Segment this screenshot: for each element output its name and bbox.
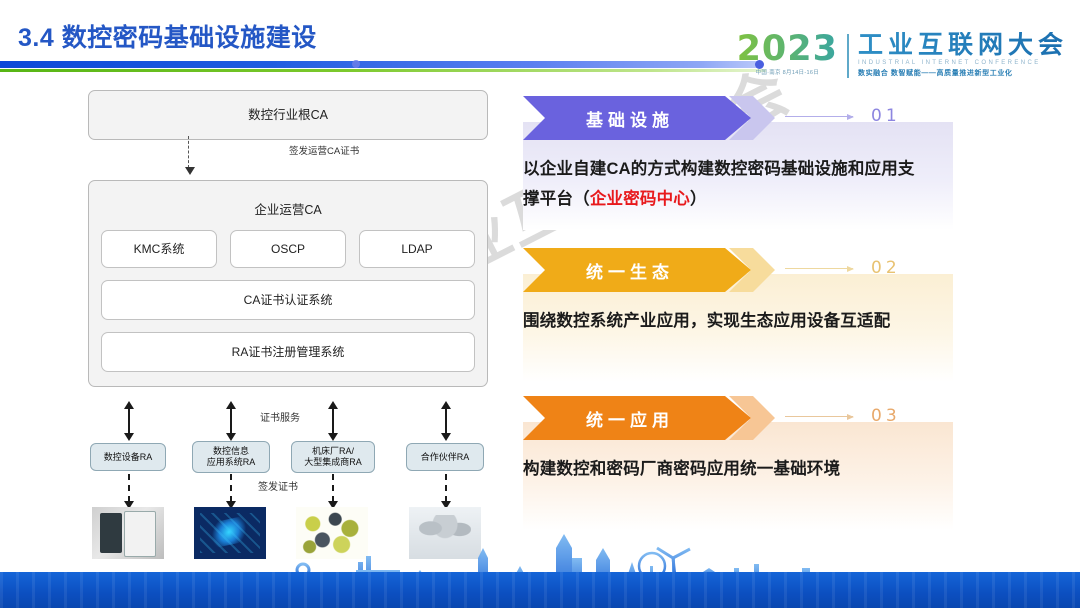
ra-partner-line1: 合作伙伴RA bbox=[421, 452, 470, 463]
section-02-banner-row: 统一生态 02 bbox=[523, 248, 975, 292]
section-02-arrow-icon bbox=[785, 268, 853, 270]
node-ops-ca-title: 企业运营CA bbox=[101, 190, 475, 230]
arrow-sign-ca bbox=[188, 136, 191, 168]
double-arrow-1 bbox=[128, 408, 130, 434]
label-issue-cert: 签发证书 bbox=[258, 478, 298, 493]
skyline-sea-band bbox=[0, 572, 1080, 608]
ra-info-line1: 数控信息 bbox=[213, 446, 249, 457]
section-02-number: 02 bbox=[871, 258, 901, 278]
node-ldap: LDAP bbox=[359, 230, 475, 268]
section-03-banner: 统一应用 bbox=[523, 396, 751, 440]
logo-name-cn: 工业互联网大会 bbox=[858, 32, 1068, 59]
section-01-tail: ） bbox=[690, 190, 707, 208]
section-03: 统一应用 03 构建数控和密码厂商密码应用统一基础环境 bbox=[523, 396, 975, 484]
node-ra-register-system: RA证书注册管理系统 bbox=[101, 332, 475, 372]
dashed-arrow-3 bbox=[332, 474, 334, 502]
section-03-arrow-icon bbox=[785, 416, 853, 418]
section-01-number: 01 bbox=[871, 106, 901, 126]
double-arrow-4 bbox=[445, 408, 447, 434]
ra-info-line2: 应用系统RA bbox=[207, 457, 256, 468]
logo-slogan: 数实融合 数智赋能——高质量推进新型工业化 bbox=[858, 68, 1068, 78]
dashed-arrow-1 bbox=[128, 474, 130, 502]
dashed-arrow-2 bbox=[230, 474, 232, 502]
section-03-text: 构建数控和密码厂商密码应用统一基础环境 bbox=[523, 460, 840, 478]
logo-year: 2023 bbox=[737, 32, 838, 66]
ra-machine-line1: 机床厂RA/ bbox=[312, 446, 354, 457]
section-01-description: 以企业自建CA的方式构建数控密码基础设施和应用支撑平台（企业密码中心） bbox=[523, 154, 923, 214]
section-01-arrow-icon bbox=[785, 116, 853, 118]
node-ra-partner: 合作伙伴RA bbox=[406, 443, 484, 471]
section-01-banner-row: 基础设施 01 bbox=[523, 96, 975, 140]
header-rule-dot bbox=[352, 60, 360, 68]
section-01-banner: 基础设施 bbox=[523, 96, 751, 140]
city-skyline-decoration bbox=[0, 518, 1080, 608]
node-ra-info-app: 数控信息 应用系统RA bbox=[192, 441, 270, 473]
section-01-text: 以企业自建CA的方式构建数控密码基础设施和应用支撑平台（ bbox=[523, 160, 915, 208]
logo-date: 中国·南京 8月14日-16日 bbox=[737, 68, 838, 76]
header-rule-green bbox=[0, 69, 766, 72]
node-ra-machine-tool: 机床厂RA/ 大型集成商RA bbox=[291, 441, 375, 473]
ra-machine-line2: 大型集成商RA bbox=[304, 457, 362, 468]
label-cert-service: 证书服务 bbox=[260, 409, 300, 424]
double-arrow-2 bbox=[230, 408, 232, 434]
logo-year-block: 2023 中国·南京 8月14日-16日 bbox=[737, 32, 847, 76]
node-ra-device: 数控设备RA bbox=[90, 443, 166, 471]
section-02-banner: 统一生态 bbox=[523, 248, 751, 292]
section-02-description: 围绕数控系统产业应用，实现生态应用设备互适配 bbox=[523, 306, 923, 336]
section-01-highlight: 企业密码中心 bbox=[590, 190, 690, 208]
section-02: 统一生态 02 围绕数控系统产业应用，实现生态应用设备互适配 bbox=[523, 248, 975, 336]
dashed-arrow-4 bbox=[445, 474, 447, 502]
ops-modules-row: KMC系统 OSCP LDAP bbox=[101, 230, 475, 268]
logo-name-en: INDUSTRIAL INTERNET CONFERENCE bbox=[858, 60, 1068, 66]
slide-canvas: 3.4 数控密码基础设施建设 2023 中国·南京 8月14日-16日 工业互联… bbox=[0, 0, 1080, 608]
section-01: 基础设施 01 以企业自建CA的方式构建数控密码基础设施和应用支撑平台（企业密码… bbox=[523, 96, 975, 214]
node-ops-ca: 企业运营CA KMC系统 OSCP LDAP CA证书认证系统 RA证书注册管理… bbox=[88, 180, 488, 387]
ra-device-line1: 数控设备RA bbox=[104, 452, 153, 463]
double-arrow-3 bbox=[332, 408, 334, 434]
node-oscp: OSCP bbox=[230, 230, 346, 268]
header-rule-blue bbox=[0, 61, 760, 68]
section-03-description: 构建数控和密码厂商密码应用统一基础环境 bbox=[523, 454, 923, 484]
node-ca-cert-system: CA证书认证系统 bbox=[101, 280, 475, 320]
label-sign-ca-cert: 签发运营CA证书 bbox=[289, 143, 359, 157]
conference-logo: 2023 中国·南京 8月14日-16日 工业互联网大会 INDUSTRIAL … bbox=[737, 32, 1068, 78]
node-kmc: KMC系统 bbox=[101, 230, 217, 268]
section-03-number: 03 bbox=[871, 406, 901, 426]
node-root-ca: 数控行业根CA bbox=[88, 90, 488, 140]
page-title: 3.4 数控密码基础设施建设 bbox=[18, 18, 317, 54]
section-02-text: 围绕数控系统产业应用，实现生态应用设备互适配 bbox=[523, 312, 890, 330]
logo-name-block: 工业互联网大会 INDUSTRIAL INTERNET CONFERENCE 数… bbox=[849, 32, 1068, 78]
architecture-diagram: 数控行业根CA 企业运营CA KMC系统 OSCP LDAP CA证书认证系统 … bbox=[88, 90, 488, 387]
section-03-banner-row: 统一应用 03 bbox=[523, 396, 975, 440]
